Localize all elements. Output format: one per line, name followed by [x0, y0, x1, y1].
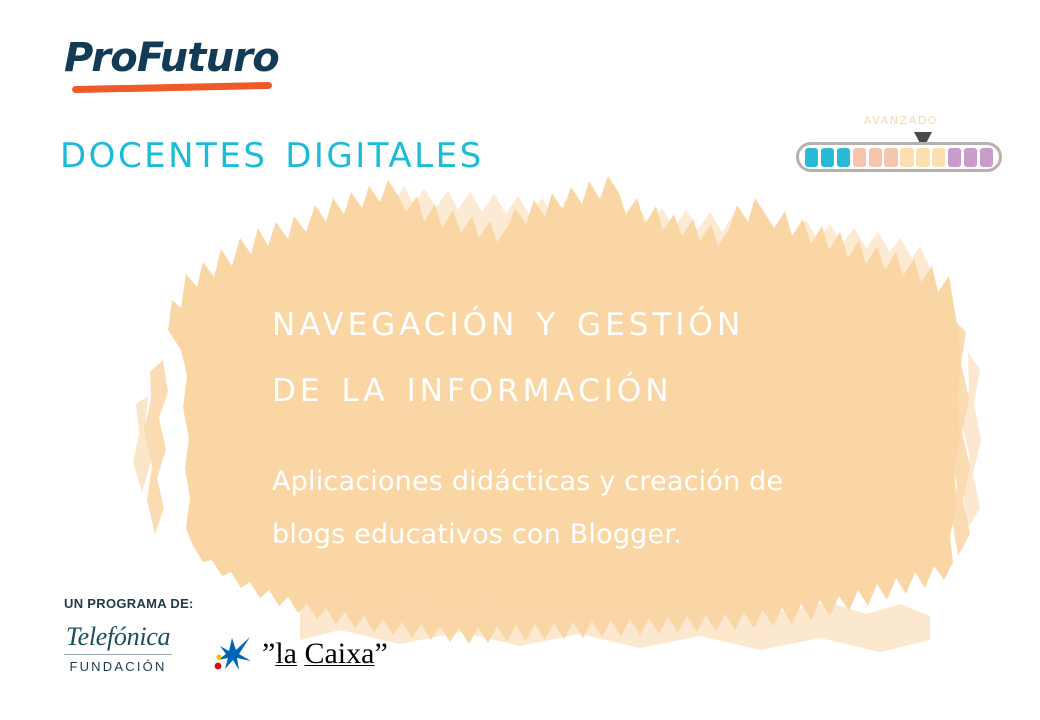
telefonica-wordmark: Telefónica [64, 622, 172, 652]
brush-fleck-left-b [133, 396, 151, 492]
footer: UN PROGRAMA DE: Telefónica FUNDACIÓN ”la… [64, 596, 464, 696]
level-segment [900, 148, 913, 167]
footer-logos: Telefónica FUNDACIÓN ”la Caixa” [64, 622, 388, 674]
brush-fleck-right-b [962, 352, 981, 528]
brush-fleck-left-a [144, 360, 168, 534]
telefonica-fundacion-logo: Telefónica FUNDACIÓN [64, 622, 172, 674]
level-segment [837, 148, 850, 167]
level-track [796, 142, 1002, 172]
telefonica-divider [64, 654, 172, 655]
level-segment [916, 148, 929, 167]
level-meter: Avanzado [790, 110, 1012, 172]
level-segment [964, 148, 977, 167]
level-segment [805, 148, 818, 167]
level-segment [948, 148, 961, 167]
lacaixa-word-caixa: Caixa [304, 637, 374, 670]
lacaixa-logo: ”la Caixa” [212, 636, 388, 672]
lacaixa-quote-close: ” [374, 637, 387, 670]
level-segment [821, 148, 834, 167]
lacaixa-dot-yellow [216, 654, 221, 659]
headline-line-1: Navegación y gestión [272, 288, 932, 354]
profuturo-logo: ProFuturo [64, 36, 324, 98]
lacaixa-quote-open: ” [262, 637, 275, 670]
level-segment [869, 148, 882, 167]
level-segment [853, 148, 866, 167]
lacaixa-star-icon [212, 636, 254, 672]
slide-canvas: ProFuturo Docentes Digitales Avanzado Na… [0, 0, 1040, 720]
lacaixa-dot-red [215, 663, 222, 670]
brush-fleck-right-a [948, 318, 970, 556]
profuturo-wordmark: ProFuturo [64, 36, 324, 80]
headline: Navegación y gestión de la información [272, 288, 932, 420]
footer-kicker-label: UN PROGRAMA DE: [64, 596, 464, 611]
telefonica-fundacion-label: FUNDACIÓN [64, 659, 172, 674]
brush-top-spatter [392, 186, 930, 300]
subtitle: Aplicaciones didácticas y creación de bl… [272, 455, 932, 561]
lacaixa-wordmark: ”la Caixa” [262, 638, 388, 670]
lacaixa-star-shape [218, 637, 251, 670]
level-segment [932, 148, 945, 167]
level-segment [884, 148, 897, 167]
lacaixa-word-la: la [275, 637, 297, 670]
headline-line-2: de la información [272, 354, 932, 420]
level-label: Avanzado [790, 110, 1012, 128]
subtitle-line-2: blogs educativos con Blogger. [272, 508, 932, 561]
level-segment [980, 148, 993, 167]
profuturo-underline-stroke [72, 82, 272, 93]
page-title: Docentes Digitales [60, 124, 484, 178]
subtitle-line-1: Aplicaciones didácticas y creación de [272, 455, 932, 508]
